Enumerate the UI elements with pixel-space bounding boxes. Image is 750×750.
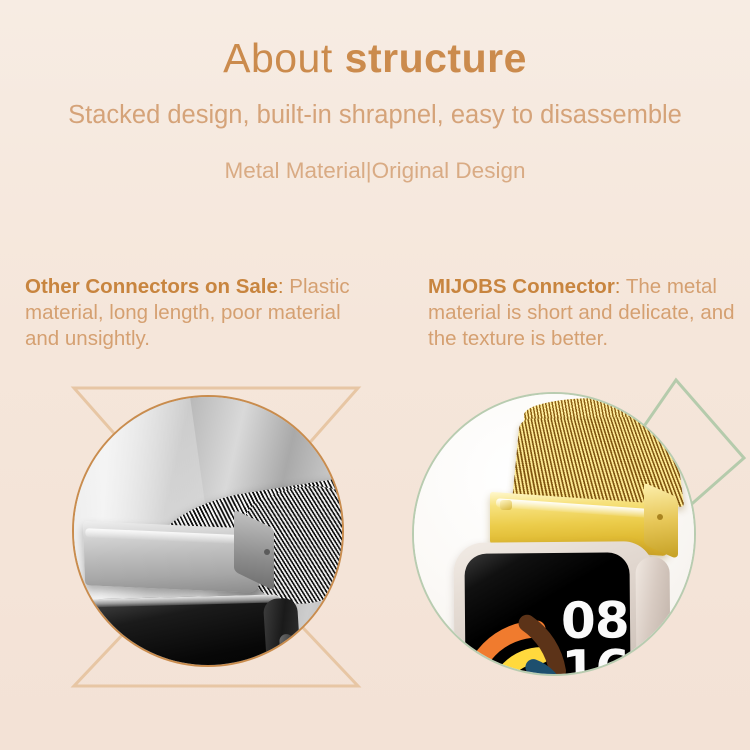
left-watch-button (279, 634, 295, 667)
page-title: About structure (0, 38, 750, 79)
page-title-light: About (223, 35, 345, 81)
right-product-photo: 08 16 (412, 392, 696, 676)
left-caption: Other Connectors on Sale: Plastic materi… (25, 274, 380, 352)
subtitle-secondary: Metal Material|Original Design (0, 160, 750, 183)
right-caption: MIJOBS Connector: The metal material is … (428, 274, 746, 352)
comparison-column-right: MIJOBS Connector: The metal material is … (428, 274, 746, 352)
right-watch-side (635, 557, 670, 676)
silver-connector-pin (264, 549, 270, 555)
right-watch-minute: 16 (561, 644, 629, 676)
right-watch-hour: 08 (561, 596, 629, 645)
right-watch-screen: 08 16 (464, 552, 630, 676)
comparison-column-left: Other Connectors on Sale: Plastic materi… (25, 274, 380, 352)
left-photo-content: 08 (74, 397, 342, 665)
left-product-photo: 08 (72, 395, 344, 667)
right-photo-content: 08 16 (414, 394, 694, 674)
subtitle-primary: Stacked design, built-in shrapnel, easy … (0, 103, 750, 129)
left-caption-lead: Other Connectors on Sale (25, 275, 278, 298)
gold-connector-pin (657, 514, 663, 520)
left-watch-body: 08 (76, 594, 285, 667)
right-caption-lead: MIJOBS Connector (428, 275, 615, 298)
page-title-bold: structure (345, 35, 527, 81)
gold-connector-clip (500, 500, 512, 510)
right-watch-body: 08 16 (453, 541, 654, 676)
page-root: About structure Stacked design, built-in… (0, 0, 750, 750)
right-watch-time: 08 16 (561, 596, 629, 676)
header: About structure Stacked design, built-in… (0, 0, 750, 182)
